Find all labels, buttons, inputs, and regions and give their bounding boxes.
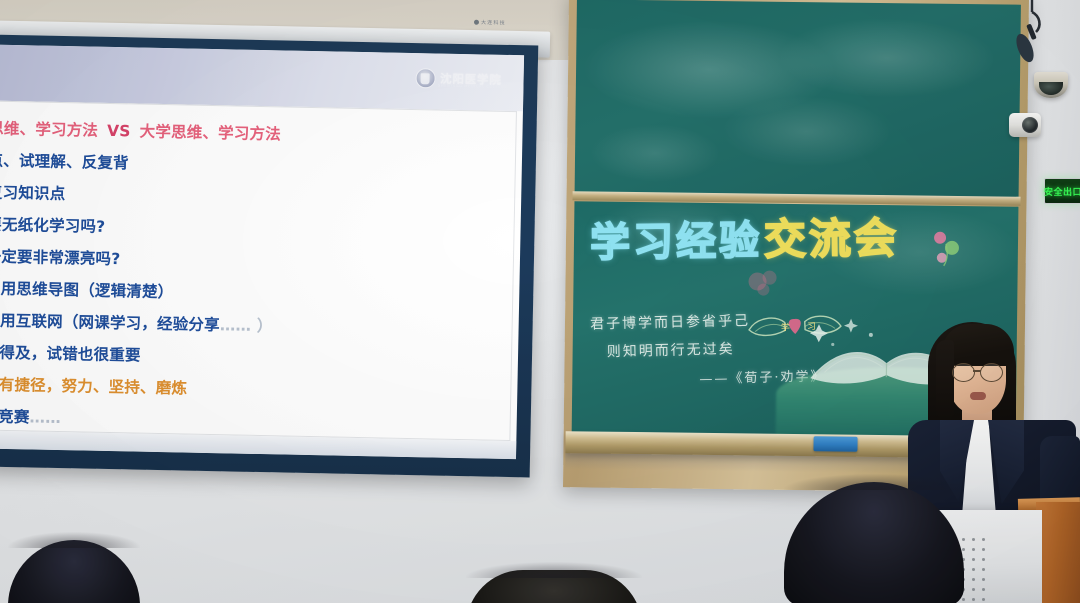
podium-dot [982, 568, 985, 571]
chalk-flower-decoration-icon [926, 222, 975, 283]
svg-text:学: 学 [781, 321, 790, 333]
emergency-exit-sign: 安全出口 [1044, 178, 1080, 204]
bullet-camera-icon [1009, 113, 1041, 137]
slide-institution-logo: 沈阳医学院 SHENYANG MEDICAL COLLEGE [415, 68, 502, 90]
podium-wood-side [1036, 502, 1080, 603]
podium-dot [962, 538, 965, 541]
blackboard-upper-panel [575, 0, 1021, 201]
chalk-pink-blossom-icon [739, 261, 799, 302]
projected-slide[interactable]: 沈阳医学院 SHENYANG MEDICAL COLLEGE 中思维、学习方法 … [0, 45, 524, 460]
podium-dot [982, 588, 985, 591]
glasses-lens-right [980, 363, 1003, 382]
slide-content-area: 中思维、学习方法 VS 大学思维、学习方法 重点、试理解、反复背 题复习知识点 … [0, 101, 517, 442]
podium-dot [972, 548, 975, 551]
podium-dot [962, 598, 965, 601]
podium-dot [972, 578, 975, 581]
glasses-lens-left [952, 363, 975, 382]
podium-perforation-pattern [962, 538, 992, 600]
podium-dot [982, 598, 985, 601]
microphone-svg [1012, 0, 1046, 80]
rail-brand-logo: 大连科技 [474, 19, 506, 27]
rail-logo-dot [474, 20, 479, 25]
podium-dot [972, 568, 975, 571]
ceiling-microphone-icon [1012, 0, 1046, 80]
speaker-mouth [970, 392, 986, 400]
slide-line-7-ellipsis: …… ） [220, 318, 273, 335]
glasses-bridge [973, 370, 981, 372]
slide-line-1-left: 中思维、学习方法 [0, 121, 98, 139]
podium-dot [982, 578, 985, 581]
chalk-title: 学习经验 交流会 [590, 217, 900, 263]
podium-dot [962, 548, 965, 551]
slide-line-10-text: 研、竞赛 [0, 409, 30, 426]
chalk-title-blue: 学习经验 [590, 221, 762, 263]
podium-dot [972, 598, 975, 601]
slide-line-1-right: 大学思维、学习方法 [139, 125, 281, 143]
podium-dot [972, 538, 975, 541]
podium-dot [982, 558, 985, 561]
exit-sign-text: 安全出口 [1044, 185, 1080, 198]
podium-dot [972, 588, 975, 591]
slide-header-band: 沈阳医学院 SHENYANG MEDICAL COLLEGE [0, 45, 524, 112]
podium-dot [982, 538, 985, 541]
institution-name-en: SHENYANG MEDICAL COLLEGE [438, 84, 507, 89]
rail-logo-text: 大连科技 [481, 20, 506, 26]
university-crest-icon [415, 68, 435, 88]
speaker-glasses-icon [950, 363, 1006, 381]
podium-dot [972, 558, 975, 561]
chalk-title-yellow: 交流会 [764, 217, 900, 261]
slide-line-10-ellipsis: …… [29, 411, 61, 427]
projection-frame: 沈阳医学院 SHENYANG MEDICAL COLLEGE 中思维、学习方法 … [0, 35, 538, 478]
lecture-scene: 大连科技 沈阳医学院 SHENYANG MEDICAL COLLEGE 中思维、… [0, 0, 1080, 603]
dome-camera-icon [1034, 72, 1068, 98]
audience-head-2 [466, 570, 642, 603]
slide-line-1-vs: VS [98, 124, 140, 140]
slide-line-7-text: 理运用互联网（网课学习，经验分享 [0, 313, 220, 334]
podium-dot [982, 548, 985, 551]
eraser-box[interactable] [813, 436, 857, 452]
